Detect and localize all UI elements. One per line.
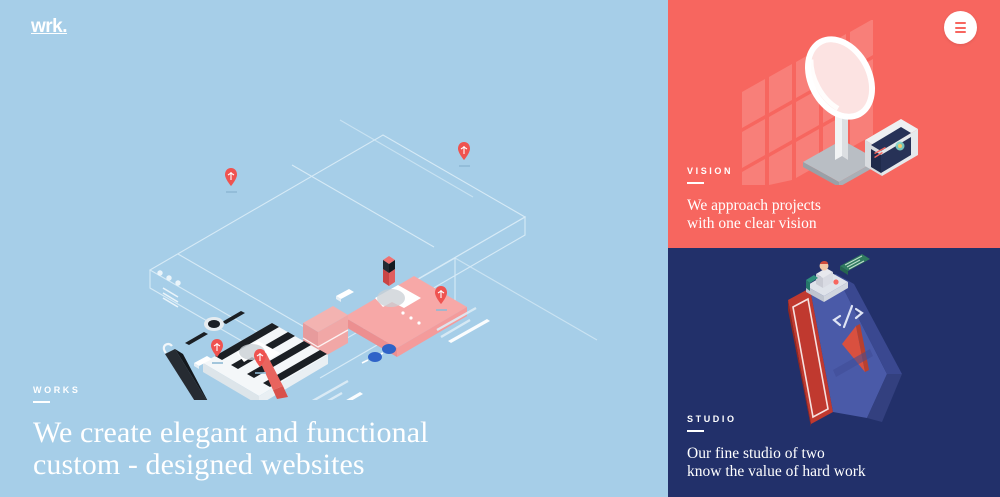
studio-heading: Our fine studio of two know the value of… xyxy=(687,445,866,481)
hero-heading: We create elegant and functional custom … xyxy=(33,417,429,481)
vision-text-block: VISION We approach projects with one cle… xyxy=(687,167,821,233)
hamburger-menu-icon[interactable] xyxy=(944,11,977,44)
studio-illustration xyxy=(770,252,935,427)
menu-line-2 xyxy=(955,27,966,29)
hero-eyebrow-wrap: WORKS xyxy=(33,386,429,403)
hero-eyebrow-rule xyxy=(33,401,50,403)
hero-illustration xyxy=(0,110,668,400)
vision-eyebrow-rule xyxy=(687,182,704,184)
page-root: wrk. xyxy=(0,0,1000,497)
hero-text-block: WORKS We create elegant and functional c… xyxy=(33,386,429,481)
studio-eyebrow-rule xyxy=(687,430,704,432)
vision-heading: We approach projects with one clear visi… xyxy=(687,197,821,233)
brand-logo[interactable]: wrk. xyxy=(31,17,67,36)
vision-illustration xyxy=(738,20,938,185)
studio-eyebrow: STUDIO xyxy=(687,415,866,424)
hero-eyebrow: WORKS xyxy=(33,386,429,395)
studio-text-block: STUDIO Our fine studio of two know the v… xyxy=(687,415,866,481)
menu-line-1 xyxy=(955,22,966,24)
hero-section: wrk. xyxy=(0,0,668,497)
vision-eyebrow: VISION xyxy=(687,167,821,176)
menu-line-3 xyxy=(955,31,966,33)
